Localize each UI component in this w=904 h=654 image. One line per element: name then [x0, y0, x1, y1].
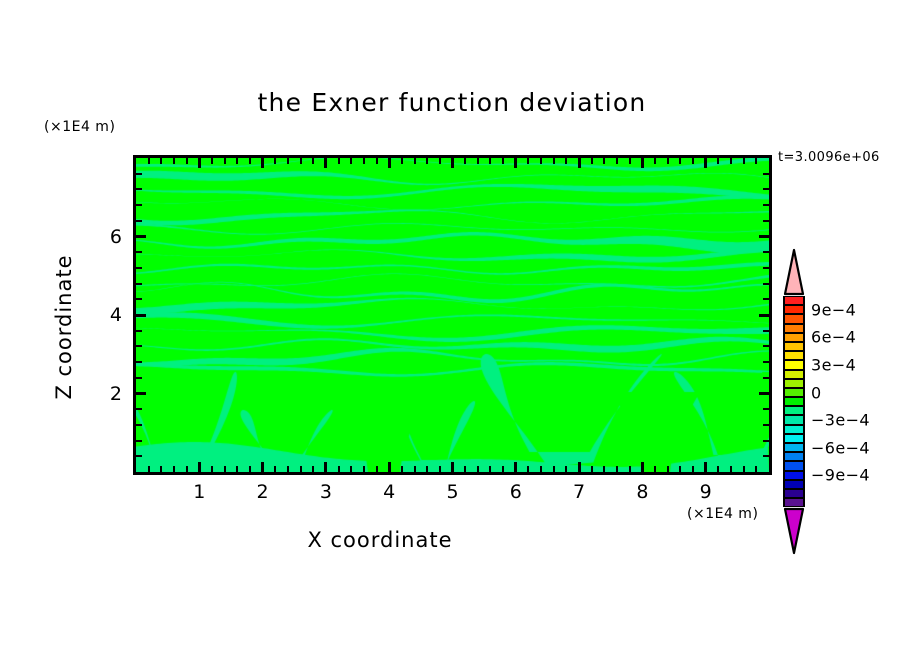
y-tick-minor-right — [763, 173, 769, 175]
colorbar-under-arrow-icon — [783, 507, 805, 555]
y-tick-minor — [136, 220, 142, 222]
x-tick-minor-top — [489, 158, 491, 164]
y-tick-minor-right — [763, 455, 769, 457]
x-tick-minor — [502, 466, 504, 472]
colorbar-tick-label: 9e−4 — [811, 300, 856, 319]
x-tick-minor — [743, 466, 745, 472]
y-tick-minor-right — [763, 188, 769, 190]
y-tick-minor-right — [763, 361, 769, 363]
y-tick-minor-right — [763, 267, 769, 269]
y-tick-minor — [136, 377, 142, 379]
x-tick-minor-top — [654, 158, 656, 164]
x-tick-minor — [489, 466, 491, 472]
x-tick-minor-top — [401, 158, 403, 164]
x-tick-minor — [629, 466, 631, 472]
x-tick-minor-top — [300, 158, 302, 164]
x-tick-minor-top — [502, 158, 504, 164]
x-tick-minor-top — [603, 158, 605, 164]
x-tick-major — [451, 462, 454, 472]
x-axis-title: X coordinate — [0, 528, 760, 552]
x-tick-major-top — [388, 158, 391, 168]
y-tick-major-right — [759, 235, 769, 238]
colorbar-band — [783, 379, 805, 388]
colorbar-tick-label: 3e−4 — [811, 356, 856, 375]
x-tick-minor-top — [527, 158, 529, 164]
colorbar-band — [783, 480, 805, 489]
colorbar-band — [783, 342, 805, 351]
y-tick-minor-right — [763, 220, 769, 222]
y-tick-minor-right — [763, 298, 769, 300]
colorbar-band — [783, 443, 805, 452]
colorbar-band — [783, 360, 805, 369]
x-tick-major — [514, 462, 517, 472]
y-tick-minor — [136, 298, 142, 300]
colorbar-band — [783, 333, 805, 342]
x-tick-minor-top — [667, 158, 669, 164]
colorbar-band — [783, 434, 805, 443]
x-tick-minor — [717, 466, 719, 472]
x-tick-minor-top — [426, 158, 428, 164]
x-tick-minor — [350, 466, 352, 472]
x-tick-minor — [553, 466, 555, 472]
x-tick-minor — [414, 466, 416, 472]
colorbar-band — [783, 471, 805, 480]
x-tick-minor — [211, 466, 213, 472]
x-tick-minor-top — [464, 158, 466, 164]
x-tick-minor — [173, 466, 175, 472]
y-tick-minor-right — [763, 330, 769, 332]
x-tick-minor — [148, 466, 150, 472]
y-tick-minor — [136, 330, 142, 332]
x-tick-minor — [363, 466, 365, 472]
x-tick-minor — [287, 466, 289, 472]
x-tick-minor-top — [236, 158, 238, 164]
x-tick-minor — [692, 466, 694, 472]
x-tick-minor-top — [224, 158, 226, 164]
page-title: the Exner function deviation — [0, 88, 904, 117]
x-tick-major-top — [324, 158, 327, 168]
y-axis-unit-label: (×1E4 m) — [44, 119, 115, 135]
colorbar-band — [783, 397, 805, 406]
colorbar-tick-label: −6e−4 — [811, 438, 870, 457]
colorbar-tick-label: 6e−4 — [811, 328, 856, 347]
y-tick-label: 4 — [96, 304, 122, 326]
x-tick-minor-top — [591, 158, 593, 164]
y-tick-major — [136, 314, 146, 317]
time-stamp-annotation: t=3.0096e+06 — [778, 150, 880, 165]
x-tick-minor-top — [730, 158, 732, 164]
x-tick-minor-top — [338, 158, 340, 164]
x-tick-major-top — [198, 158, 201, 168]
x-tick-minor-top — [477, 158, 479, 164]
colorbar-tick-label: 0 — [811, 383, 822, 402]
colorbar-band-stack — [783, 296, 805, 507]
x-tick-major-top — [704, 158, 707, 168]
x-tick-major — [388, 462, 391, 472]
y-tick-minor-right — [763, 251, 769, 253]
x-tick-minor — [160, 466, 162, 472]
y-tick-minor — [136, 424, 142, 426]
x-tick-minor — [439, 466, 441, 472]
colorbar-tick-label: −9e−4 — [811, 466, 870, 485]
colorbar-band — [783, 296, 805, 305]
colorbar-band — [783, 415, 805, 424]
x-tick-minor-top — [414, 158, 416, 164]
x-tick-label: 4 — [383, 481, 395, 503]
x-tick-minor — [249, 466, 251, 472]
contour-plot-area — [133, 155, 772, 475]
x-tick-minor-top — [743, 158, 745, 164]
x-tick-minor-top — [616, 158, 618, 164]
x-tick-major — [261, 462, 264, 472]
contour-field — [136, 158, 769, 472]
x-tick-minor-top — [565, 158, 567, 164]
y-axis-title: Z coordinate — [52, 242, 76, 412]
x-tick-minor — [224, 466, 226, 472]
colorbar-band — [783, 425, 805, 434]
x-tick-minor-top — [755, 158, 757, 164]
x-tick-label: 6 — [510, 481, 522, 503]
x-tick-minor-top — [363, 158, 365, 164]
colorbar-band — [783, 388, 805, 397]
x-tick-label: 2 — [257, 481, 269, 503]
colorbar-band — [783, 324, 805, 333]
x-tick-major — [324, 462, 327, 472]
x-tick-major — [704, 462, 707, 472]
x-tick-label: 5 — [446, 481, 458, 503]
x-tick-minor-top — [629, 158, 631, 164]
x-tick-minor-top — [553, 158, 555, 164]
y-tick-minor — [136, 188, 142, 190]
y-tick-minor — [136, 455, 142, 457]
x-tick-minor — [730, 466, 732, 472]
colorbar — [783, 248, 805, 555]
y-tick-minor-right — [763, 440, 769, 442]
y-tick-minor — [136, 251, 142, 253]
x-tick-minor-top — [540, 158, 542, 164]
x-tick-minor — [300, 466, 302, 472]
y-tick-minor — [136, 267, 142, 269]
x-tick-minor-top — [186, 158, 188, 164]
x-tick-minor — [426, 466, 428, 472]
x-tick-minor — [654, 466, 656, 472]
x-tick-minor-top — [439, 158, 441, 164]
x-tick-major-top — [451, 158, 454, 168]
x-tick-label: 8 — [636, 481, 648, 503]
x-tick-minor-top — [717, 158, 719, 164]
x-tick-minor — [540, 466, 542, 472]
x-axis-unit-label: (×1E4 m) — [687, 506, 758, 522]
colorbar-band — [783, 489, 805, 498]
x-tick-major-top — [514, 158, 517, 168]
colorbar-over-arrow-icon — [783, 248, 805, 296]
x-tick-major-top — [641, 158, 644, 168]
x-tick-minor-top — [692, 158, 694, 164]
y-tick-minor — [136, 361, 142, 363]
x-tick-label: 3 — [320, 481, 332, 503]
y-tick-minor — [136, 440, 142, 442]
x-tick-label: 7 — [573, 481, 585, 503]
x-tick-minor — [527, 466, 529, 472]
x-tick-minor — [679, 466, 681, 472]
colorbar-band — [783, 314, 805, 323]
y-tick-minor-right — [763, 408, 769, 410]
colorbar-band — [783, 370, 805, 379]
x-tick-minor-top — [376, 158, 378, 164]
x-tick-minor-top — [249, 158, 251, 164]
y-tick-minor — [136, 408, 142, 410]
x-tick-minor-top — [287, 158, 289, 164]
y-tick-minor-right — [763, 283, 769, 285]
y-tick-minor-right — [763, 377, 769, 379]
x-tick-minor-top — [211, 158, 213, 164]
x-tick-minor-top — [148, 158, 150, 164]
y-tick-minor — [136, 173, 142, 175]
y-tick-minor — [136, 204, 142, 206]
y-tick-major — [136, 235, 146, 238]
x-tick-minor-top — [312, 158, 314, 164]
x-tick-major — [641, 462, 644, 472]
colorbar-band — [783, 406, 805, 415]
x-tick-label: 1 — [193, 481, 205, 503]
x-tick-minor — [401, 466, 403, 472]
colorbar-band — [783, 351, 805, 360]
x-tick-minor — [236, 466, 238, 472]
x-tick-minor-top — [679, 158, 681, 164]
x-tick-major-top — [261, 158, 264, 168]
x-tick-minor — [591, 466, 593, 472]
x-tick-minor — [603, 466, 605, 472]
x-tick-major — [578, 462, 581, 472]
x-tick-minor-top — [160, 158, 162, 164]
colorbar-band — [783, 452, 805, 461]
x-tick-minor — [667, 466, 669, 472]
x-tick-minor — [312, 466, 314, 472]
y-tick-major-right — [759, 392, 769, 395]
x-tick-minor — [616, 466, 618, 472]
y-tick-major — [136, 392, 146, 395]
y-tick-major-right — [759, 314, 769, 317]
y-tick-minor — [136, 283, 142, 285]
y-tick-minor-right — [763, 204, 769, 206]
colorbar-band — [783, 498, 805, 507]
x-tick-major — [198, 462, 201, 472]
x-tick-minor — [376, 466, 378, 472]
x-tick-minor — [565, 466, 567, 472]
x-tick-minor — [274, 466, 276, 472]
colorbar-tick-label: −3e−4 — [811, 411, 870, 430]
colorbar-band — [783, 305, 805, 314]
x-tick-minor — [186, 466, 188, 472]
y-tick-minor-right — [763, 345, 769, 347]
x-tick-minor-top — [274, 158, 276, 164]
x-tick-major-top — [578, 158, 581, 168]
x-tick-minor — [464, 466, 466, 472]
y-tick-minor — [136, 345, 142, 347]
x-tick-label: 9 — [700, 481, 712, 503]
colorbar-band — [783, 461, 805, 470]
x-tick-minor-top — [350, 158, 352, 164]
x-tick-minor — [755, 466, 757, 472]
x-tick-minor — [338, 466, 340, 472]
x-tick-minor — [477, 466, 479, 472]
x-tick-minor-top — [173, 158, 175, 164]
y-tick-label: 2 — [96, 383, 122, 405]
y-tick-label: 6 — [96, 226, 122, 248]
y-tick-minor-right — [763, 424, 769, 426]
